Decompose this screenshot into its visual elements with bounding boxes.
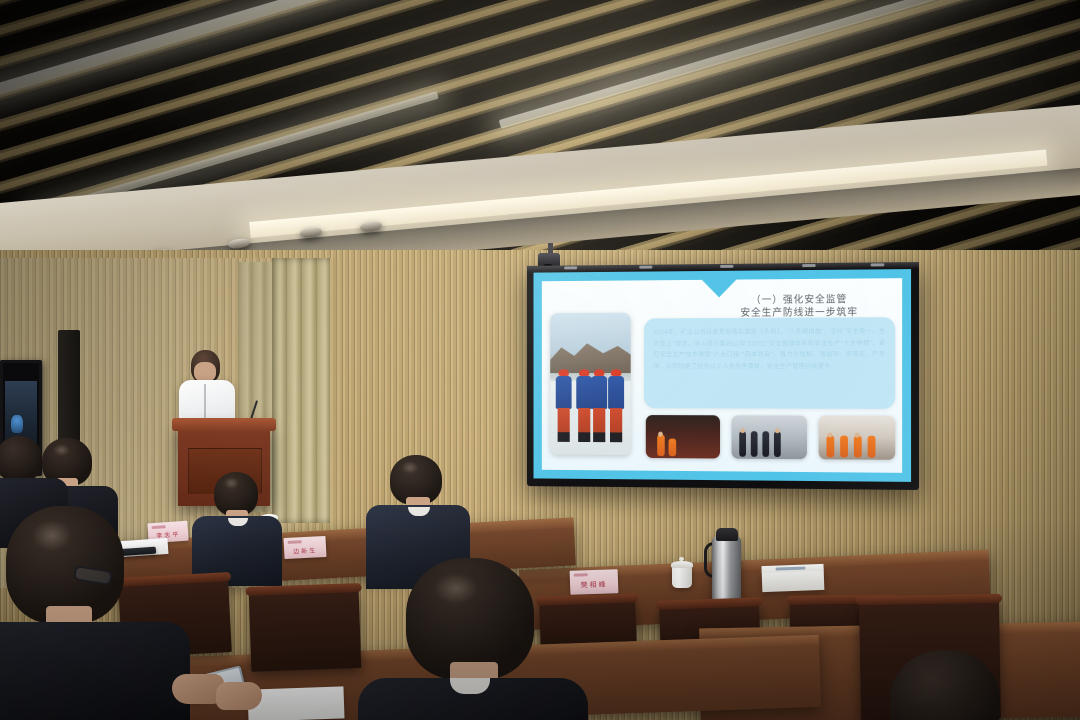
- speaker-face: [194, 362, 216, 382]
- worker-torso: [556, 376, 572, 409]
- hair-highlight: [32, 520, 72, 551]
- name-card-2-text: 边新生: [284, 545, 326, 556]
- worker-boots: [593, 432, 605, 442]
- worker-torso: [608, 376, 624, 409]
- hard-hat-icon: [579, 369, 589, 376]
- worker-legs: [593, 408, 605, 433]
- photo-worker: [591, 369, 607, 443]
- hard-hat-icon: [594, 369, 604, 376]
- worker-legs: [558, 408, 570, 433]
- worker-boots: [558, 432, 570, 442]
- photo-worker: [608, 369, 624, 443]
- photo-figure: [868, 436, 876, 458]
- hair-highlight: [224, 477, 239, 488]
- photo-figure-head: [775, 428, 780, 433]
- presentation-slide: （一）强化安全监管 安全生产防线进一步筑牢: [533, 269, 911, 482]
- bezel-glint: [871, 263, 885, 266]
- bezel-glint: [720, 265, 733, 268]
- slide-text-panel: 2024年，矿业公司认真贯彻落实国家《条例》、"八条硬措施"，坚持"安全第一、生…: [644, 317, 895, 409]
- slide-photo-underground-inspection: [646, 415, 720, 458]
- conference-room-photo: （一）强化安全监管 安全生产防线进一步筑牢: [0, 0, 1080, 720]
- attendee-hands: [172, 660, 262, 720]
- podium-top-surface: [172, 418, 276, 431]
- slide-title-line-1: （一）强化安全监管: [696, 293, 903, 307]
- attendee-suit: [0, 622, 190, 720]
- photo-figure: [826, 436, 834, 458]
- slide-thumbnail-row: [646, 415, 895, 460]
- thermos-cap: [716, 528, 738, 541]
- photo-figure-head: [855, 433, 860, 438]
- presentation-display[interactable]: （一）强化安全监管 安全生产防线进一步筑牢: [527, 262, 919, 490]
- worker-boots: [610, 432, 622, 442]
- chair-top-rail: [856, 594, 1002, 606]
- worker-legs: [578, 408, 590, 433]
- photo-figure-head: [827, 433, 832, 438]
- photo-figure: [774, 431, 781, 457]
- slide-body-text: 2024年，矿业公司认真贯彻落实国家《条例》、"八条硬措施"，坚持"安全第一、生…: [653, 326, 885, 403]
- hard-hat-icon: [611, 369, 621, 376]
- display-screen: （一）强化安全监管 安全生产防线进一步筑牢: [533, 269, 911, 482]
- attendee-head: [890, 650, 1000, 720]
- photo-figure: [762, 431, 769, 457]
- hand-right: [216, 682, 262, 710]
- attendee-front-left-glasses: [0, 506, 180, 720]
- photo-figure-head: [740, 428, 745, 433]
- namecard-logo: [288, 540, 302, 544]
- photo-worker: [576, 369, 592, 443]
- meeting-documents: [247, 686, 344, 720]
- photo-figure-head: [658, 432, 663, 437]
- photo-figure: [657, 435, 665, 457]
- hair-highlight: [434, 573, 478, 605]
- photo-figure: [669, 439, 677, 457]
- bezel-glint: [639, 266, 652, 269]
- bezel-glint: [564, 266, 577, 269]
- porcelain-teacup: [672, 566, 692, 588]
- photo-mountain-range: [550, 340, 631, 373]
- hard-hat-icon: [559, 369, 569, 376]
- teacup-knob: [679, 557, 684, 561]
- attendee-mid-left: [192, 472, 282, 582]
- worker-boots: [578, 432, 590, 442]
- hair-highlight: [401, 461, 419, 474]
- name-card-2: 边新生: [283, 536, 326, 559]
- slide-photo-outdoor-workers: [550, 313, 631, 455]
- photo-figure: [840, 436, 848, 458]
- slide-title: （一）强化安全监管 安全生产防线进一步筑牢: [696, 293, 903, 320]
- photo-figure: [751, 431, 758, 457]
- worker-legs: [610, 408, 622, 433]
- photo-worker: [556, 369, 572, 443]
- teacup-lid: [671, 561, 693, 568]
- bezel-glint: [802, 264, 816, 267]
- slide-photo-leaders-meeting: [732, 415, 807, 459]
- worker-torso: [591, 376, 607, 409]
- attendee-front-center: [358, 558, 588, 720]
- tissue-box: [762, 568, 825, 592]
- attendee-front-right: [830, 660, 1070, 720]
- photo-figure: [739, 431, 746, 457]
- photo-figure: [854, 436, 862, 458]
- slide-photo-safety-team: [819, 416, 896, 460]
- conference-chair[interactable]: [249, 588, 362, 672]
- attendee-head: [0, 436, 42, 482]
- worker-torso: [576, 376, 592, 409]
